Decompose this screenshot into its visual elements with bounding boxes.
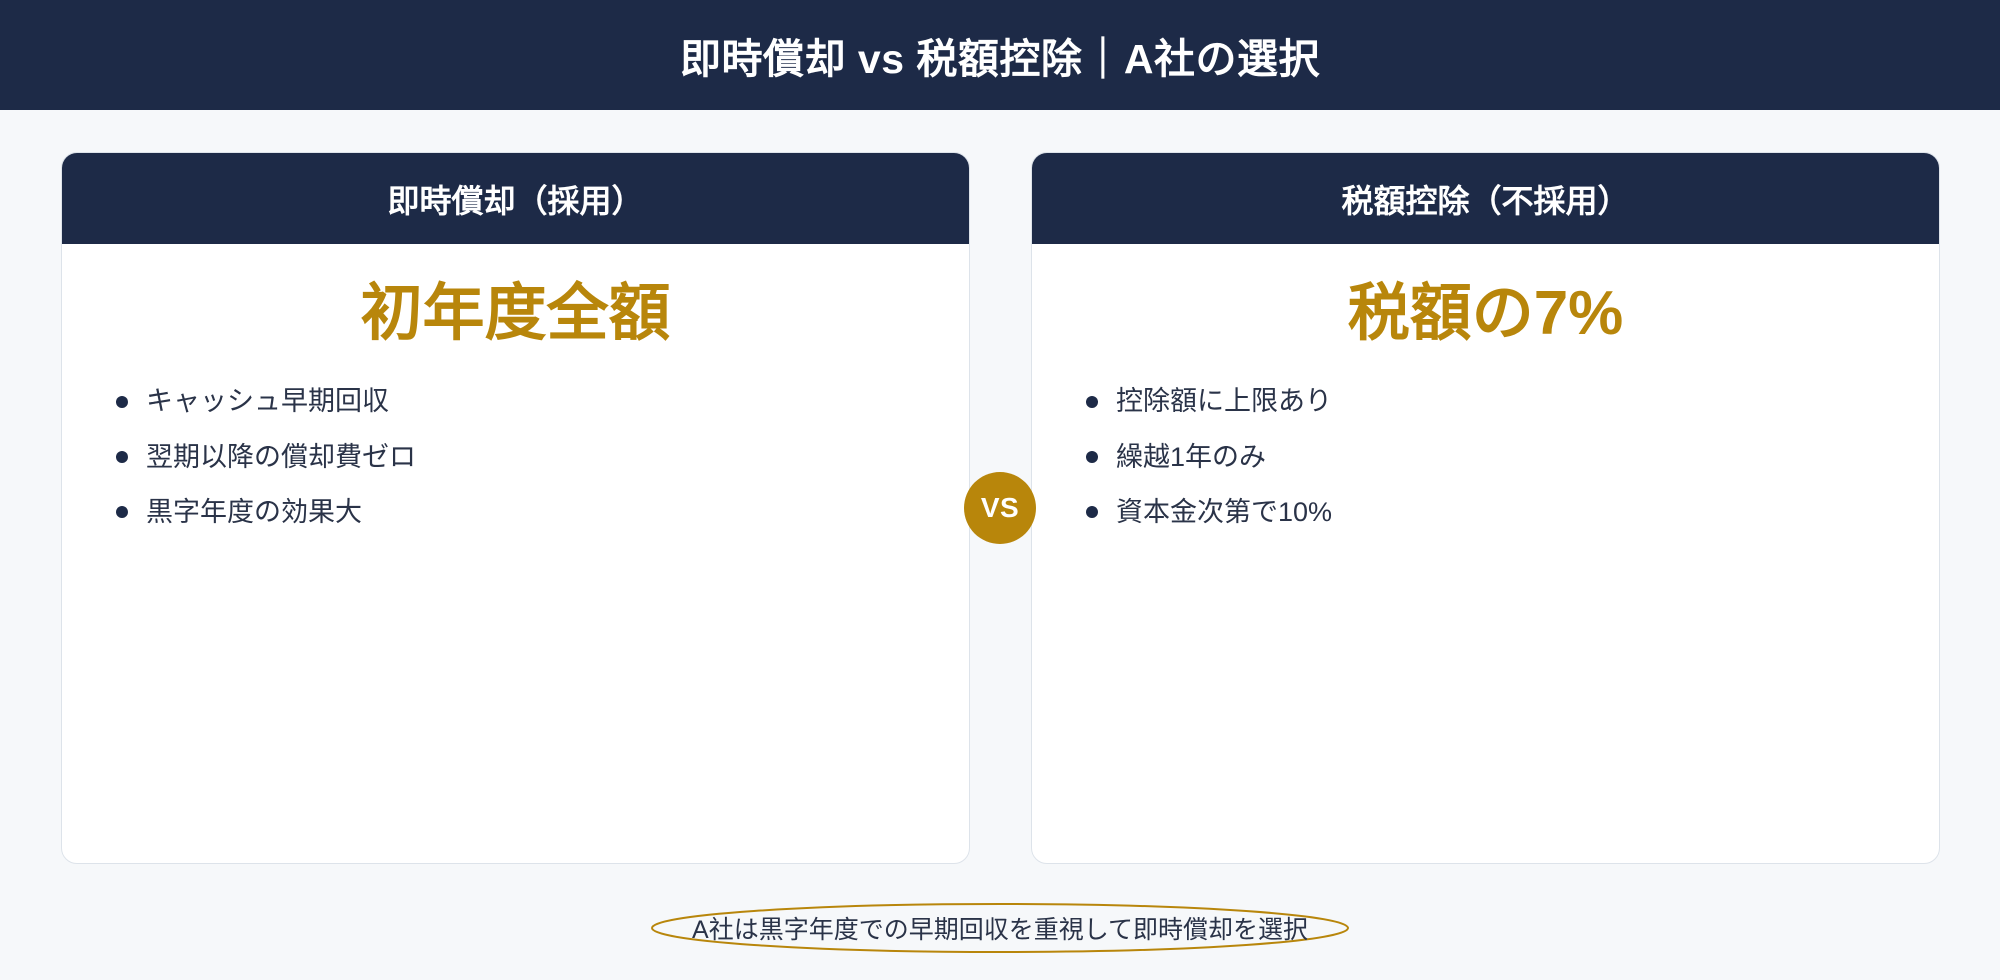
list-item: 資本金次第で10%: [1086, 494, 1895, 530]
conclusion-caption-label: A社は黒字年度での早期回収を重視して即時償却を選択: [650, 902, 1350, 954]
card-tax-credit: 税額控除（不採用） 税額の7% 控除額に上限あり 繰越1年のみ 資本金次第で1: [1031, 152, 1940, 864]
card-header-immediate-depreciation: 即時償却（採用）: [62, 153, 969, 244]
bullet-dot-icon: [1086, 396, 1098, 408]
bullet-dot-icon: [1086, 451, 1098, 463]
page-header: 即時償却 vs 税額控除｜A社の選択: [0, 0, 2000, 110]
list-item: 繰越1年のみ: [1086, 439, 1895, 475]
page-title: 即時償却 vs 税額控除｜A社の選択: [680, 25, 1320, 85]
card-title-immediate-depreciation: 即時償却（採用）: [387, 176, 643, 222]
bullet-dot-icon: [116, 506, 128, 518]
list-item-label: 控除額に上限あり: [1116, 383, 1332, 419]
bullet-dot-icon: [1086, 506, 1098, 518]
list-item-label: 翌期以降の償却費ゼロ: [146, 439, 416, 475]
slide-canvas: 即時償却 vs 税額控除｜A社の選択 即時償却（採用） 初年度全額 キャッシュ早…: [0, 0, 2000, 980]
vs-badge: VS: [964, 472, 1036, 544]
card-title-tax-credit: 税額控除（不採用）: [1341, 176, 1629, 222]
card-body-immediate-depreciation: 初年度全額 キャッシュ早期回収 翌期以降の償却費ゼロ 黒字年度の効果大: [62, 244, 969, 531]
list-item: 翌期以降の償却費ゼロ: [116, 439, 925, 475]
bullet-dot-icon: [116, 396, 128, 408]
list-item-label: 資本金次第で10%: [1116, 494, 1332, 530]
bullet-list-tax-credit: 控除額に上限あり 繰越1年のみ 資本金次第で10%: [1076, 383, 1895, 530]
bullet-dot-icon: [116, 451, 128, 463]
bullet-list-immediate-depreciation: キャッシュ早期回収 翌期以降の償却費ゼロ 黒字年度の効果大: [106, 383, 925, 530]
list-item: 控除額に上限あり: [1086, 383, 1895, 419]
card-value-immediate-depreciation: 初年度全額: [106, 278, 925, 349]
list-item: キャッシュ早期回収: [116, 383, 925, 419]
list-item: 黒字年度の効果大: [116, 494, 925, 530]
card-immediate-depreciation: 即時償却（採用） 初年度全額 キャッシュ早期回収 翌期以降の償却費ゼロ 黒字年: [61, 152, 970, 864]
card-body-tax-credit: 税額の7% 控除額に上限あり 繰越1年のみ 資本金次第で10%: [1032, 244, 1939, 531]
conclusion-caption: A社は黒字年度での早期回収を重視して即時償却を選択: [650, 902, 1350, 954]
card-header-tax-credit: 税額控除（不採用）: [1032, 153, 1939, 244]
list-item-label: キャッシュ早期回収: [146, 383, 389, 419]
list-item-label: 黒字年度の効果大: [146, 494, 362, 530]
card-value-tax-credit: 税額の7%: [1076, 278, 1895, 349]
list-item-label: 繰越1年のみ: [1116, 439, 1266, 475]
vs-badge-label: VS: [981, 492, 1019, 524]
